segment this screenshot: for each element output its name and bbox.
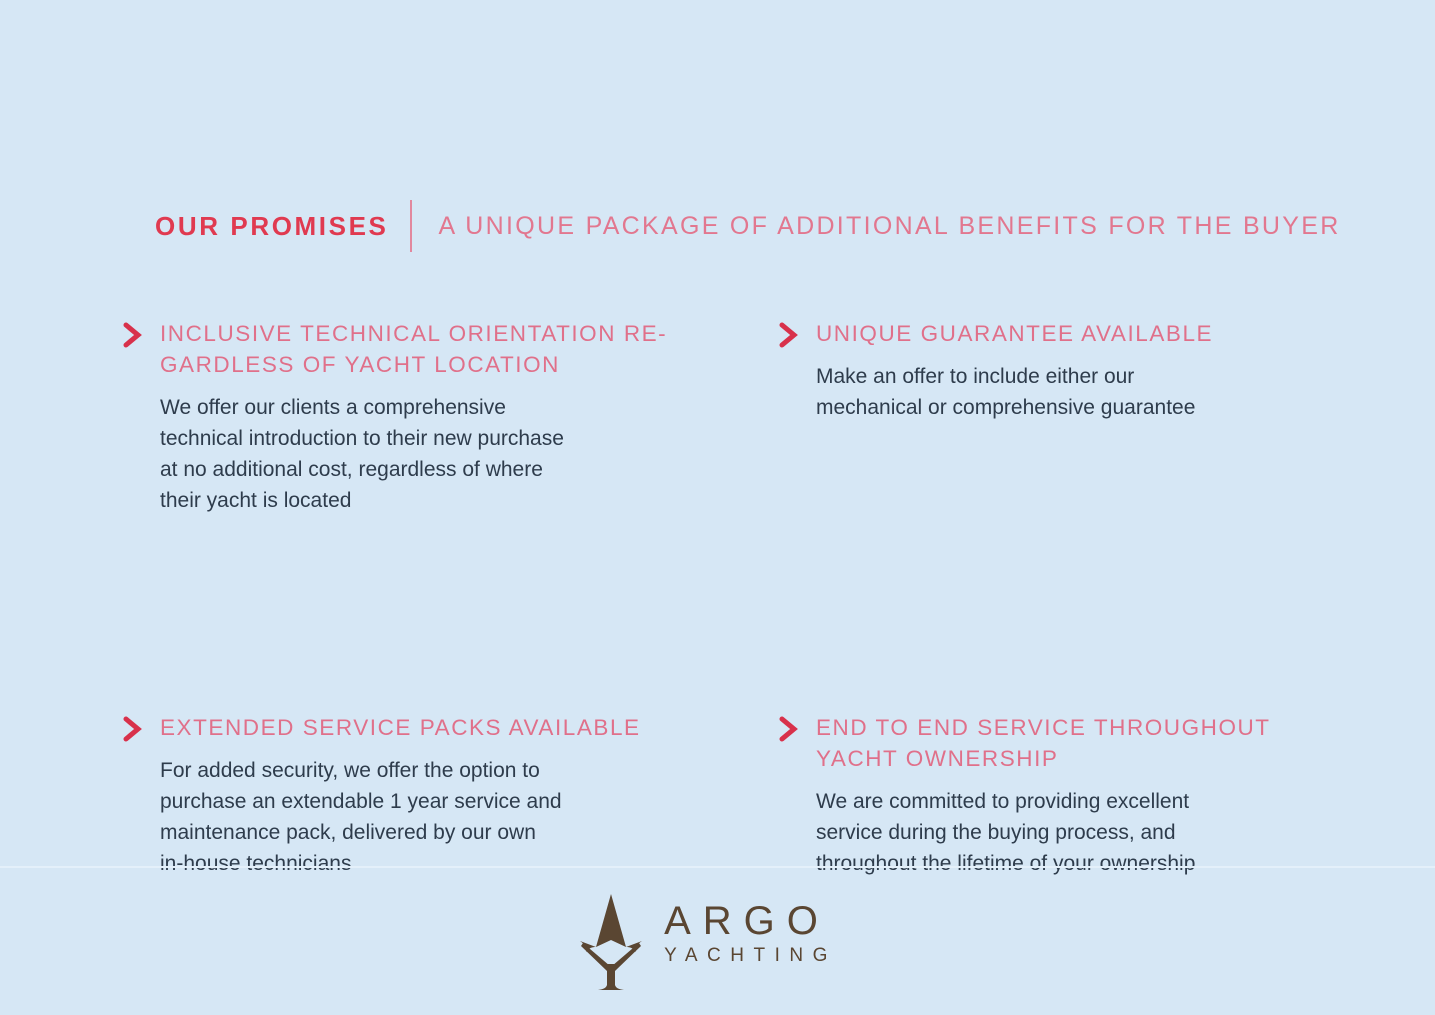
promise-item: UNIQUE GUARANTEE AVAILABLE Make an offer…	[778, 318, 1322, 516]
chevron-right-icon	[122, 716, 144, 742]
promise-item: END TO END SERVICE THROUGHOUT YACHT OWNE…	[778, 712, 1322, 879]
promise-body: EXTENDED SERVICE PACKS AVAILABLE For add…	[160, 712, 778, 879]
promise-text: We offer our clients a comprehensive tec…	[160, 392, 660, 516]
section-header: OUR PROMISES A UNIQUE PACKAGE OF ADDITIO…	[155, 200, 1341, 252]
promise-text-line: For added security, we offer the option …	[160, 755, 660, 786]
footer: ARGO YACHTING	[0, 868, 1435, 1015]
promise-text: For added security, we offer the option …	[160, 755, 660, 879]
chevron-right-icon	[122, 322, 144, 348]
promise-text-line: at no additional cost, regardless of whe…	[160, 454, 660, 485]
chevron-right-icon	[778, 716, 800, 742]
promise-text-line: technical introduction to their new purc…	[160, 423, 660, 454]
promise-text-line: mechanical or comprehensive guarantee	[816, 392, 1286, 423]
brand-logo: ARGO YACHTING	[574, 890, 837, 994]
brand-tagline: YACHTING	[664, 943, 837, 969]
promise-title: END TO END SERVICE THROUGHOUT YACHT OWNE…	[816, 712, 1286, 774]
promise-text-line: We offer our clients a comprehensive	[160, 392, 660, 423]
promise-text-line: service during the buying process, and	[816, 817, 1286, 848]
promise-item: EXTENDED SERVICE PACKS AVAILABLE For add…	[122, 712, 778, 879]
promises-grid: INCLUSIVE TECHNICAL ORIENTATION RE-GARDL…	[122, 318, 1322, 879]
promise-title: INCLUSIVE TECHNICAL ORIENTATION RE-GARDL…	[160, 318, 680, 380]
promise-text-line: We are committed to providing excellent	[816, 786, 1286, 817]
promise-body: INCLUSIVE TECHNICAL ORIENTATION RE-GARDL…	[160, 318, 778, 516]
brand-name: ARGO	[664, 899, 837, 943]
promise-body: END TO END SERVICE THROUGHOUT YACHT OWNE…	[816, 712, 1322, 879]
header-divider	[410, 200, 412, 252]
promise-body: UNIQUE GUARANTEE AVAILABLE Make an offer…	[816, 318, 1322, 423]
chevron-right-icon	[778, 322, 800, 348]
promises-page: OUR PROMISES A UNIQUE PACKAGE OF ADDITIO…	[0, 0, 1435, 1015]
argo-ay-monogram-icon	[574, 890, 648, 994]
promise-text-line: Make an offer to include either our	[816, 361, 1286, 392]
section-title: OUR PROMISES	[155, 213, 388, 239]
promise-text: Make an offer to include either our mech…	[816, 361, 1286, 423]
promise-title: EXTENDED SERVICE PACKS AVAILABLE	[160, 712, 680, 743]
promise-text-line: purchase an extendable 1 year service an…	[160, 786, 660, 817]
promise-title: UNIQUE GUARANTEE AVAILABLE	[816, 318, 1286, 349]
promise-text-line: their yacht is located	[160, 485, 660, 516]
promise-item: INCLUSIVE TECHNICAL ORIENTATION RE-GARDL…	[122, 318, 778, 516]
section-subtitle: A UNIQUE PACKAGE OF ADDITIONAL BENEFITS …	[438, 214, 1340, 239]
promise-text-line: maintenance pack, delivered by our own	[160, 817, 660, 848]
brand-wordmark: ARGO YACHTING	[664, 899, 837, 985]
